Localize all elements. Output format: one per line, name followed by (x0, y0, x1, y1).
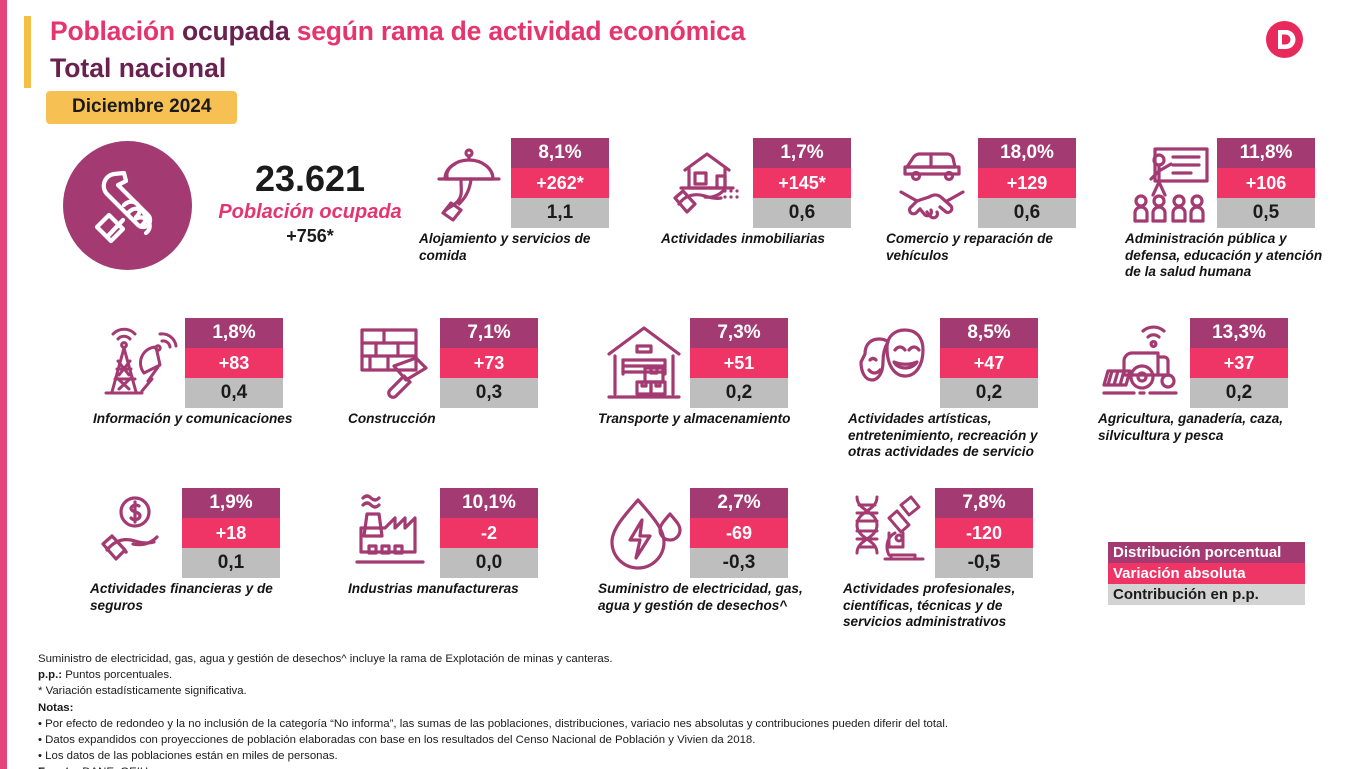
band-distribucion-porcentual: 11,8% (1217, 138, 1315, 168)
antenna-satellite-icon (96, 321, 182, 403)
band-variacion-absoluta: -69 (690, 518, 788, 548)
card-informacion-y-comunicaciones: 1,8% +83 0,4 Información y comunicacione… (93, 318, 298, 428)
card-suministro-electricidad-gas-agua: 2,7% -69 -0,3 Suministro de electricidad… (598, 488, 810, 614)
card-comercio-y-reparacion-de-vehiculos: 18,0% +129 0,6 Comercio y reparación de … (886, 138, 1096, 264)
card-icon-wrap (598, 318, 690, 406)
footnote-line-7: • Los datos de las poblaciones están en … (38, 748, 948, 764)
card-bands: 1,8% +83 0,4 (185, 318, 283, 408)
page-title: Población ocupada según rama de activida… (50, 16, 745, 47)
band-variacion-absoluta: +262* (511, 168, 609, 198)
footnote-line-2: p.p.: Puntos porcentuales. (38, 667, 948, 683)
date-badge: Diciembre 2024 (46, 91, 237, 124)
wrench-hand-icon (87, 165, 169, 247)
card-label: Agricultura, ganadería, caza, silvicultu… (1098, 411, 1310, 444)
card-icon-wrap (90, 488, 182, 576)
card-label: Construcción (348, 411, 543, 428)
card-bands: 7,1% +73 0,3 (440, 318, 538, 408)
warehouse-boxes-icon (601, 322, 687, 402)
band-distribucion-porcentual: 8,1% (511, 138, 609, 168)
card-administracion-publica: 11,8% +106 0,5 Administración pública y … (1125, 138, 1337, 281)
card-icon-wrap (598, 488, 690, 576)
theater-masks-icon (853, 322, 935, 402)
legend: Distribución porcentual Variación absolu… (1108, 542, 1305, 605)
legend-distribucion-porcentual: Distribución porcentual (1108, 542, 1305, 563)
card-transporte-y-almacenamiento: 7,3% +51 0,2 Transporte y almacenamiento (598, 318, 808, 428)
footnote-notas-label: Notas: (38, 700, 948, 716)
card-label: Alojamiento y servicios de comida (419, 231, 619, 264)
card-label: Administración pública y defensa, educac… (1125, 231, 1337, 281)
card-label: Transporte y almacenamiento (598, 411, 808, 428)
card-actividades-inmobiliarias: 1,7% +145* 0,6 Actividades inmobiliarias (661, 138, 861, 248)
card-actividades-artisticas: 8,5% +47 0,2 Actividades artísticas, ent… (848, 318, 1066, 461)
band-distribucion-porcentual: 8,5% (940, 318, 1038, 348)
card-bands: 1,9% +18 0,1 (182, 488, 280, 578)
page-subtitle: Total nacional (50, 53, 226, 84)
band-variacion-absoluta: +18 (182, 518, 280, 548)
band-contribucion: 0,6 (978, 198, 1076, 228)
card-bands: 13,3% +37 0,2 (1190, 318, 1288, 408)
card-actividades-profesionales: 7,8% -120 -0,5 Actividades profesionales… (843, 488, 1065, 631)
card-label: Actividades artísticas, entretenimiento,… (848, 411, 1066, 461)
card-icon-wrap (661, 138, 753, 226)
car-handshake-icon (889, 142, 975, 222)
card-industrias-manufactureras: 10,1% -2 0,0 Industrias manufactureras (348, 488, 553, 598)
hero-text: 23.621 Población ocupada +756* (200, 160, 420, 247)
hero-variation: +756* (200, 226, 420, 247)
band-contribucion: 0,3 (440, 378, 538, 408)
band-variacion-absoluta: -120 (935, 518, 1033, 548)
footnote-line-6: • Datos expandidos con proyecciones de p… (38, 732, 948, 748)
card-actividades-financieras: 1,9% +18 0,1 Actividades financieras y d… (90, 488, 295, 614)
band-variacion-absoluta: +47 (940, 348, 1038, 378)
band-variacion-absoluta: +129 (978, 168, 1076, 198)
card-bands: 1,7% +145* 0,6 (753, 138, 851, 228)
band-variacion-absoluta: +106 (1217, 168, 1315, 198)
band-distribucion-porcentual: 1,9% (182, 488, 280, 518)
band-contribucion: 0,1 (182, 548, 280, 578)
money-hand-icon (93, 492, 179, 572)
band-variacion-absoluta: +37 (1190, 348, 1288, 378)
hero-label: Población ocupada (200, 200, 420, 225)
dna-microscope-icon (845, 491, 933, 573)
infographic-page: Población ocupada según rama de activida… (0, 0, 1345, 769)
card-icon-wrap (348, 488, 440, 576)
card-bands: 18,0% +129 0,6 (978, 138, 1076, 228)
page-title-part3: según rama de actividad económica (290, 16, 746, 46)
card-label: Actividades profesionales, científicas, … (843, 581, 1065, 631)
food-service-cloche-icon (425, 142, 505, 222)
card-label: Comercio y reparación de vehículos (886, 231, 1096, 264)
card-icon-wrap (886, 138, 978, 226)
band-contribucion: -0,5 (935, 548, 1033, 578)
factory-icon (351, 492, 437, 572)
tractor-icon (1098, 321, 1190, 403)
band-variacion-absoluta: +51 (690, 348, 788, 378)
card-icon-wrap (1125, 138, 1217, 226)
legend-contribucion-pp: Contribución en p.p. (1108, 584, 1305, 605)
band-distribucion-porcentual: 1,7% (753, 138, 851, 168)
band-distribucion-porcentual: 7,1% (440, 318, 538, 348)
band-variacion-absoluta: -2 (440, 518, 538, 548)
card-icon-wrap (848, 318, 940, 406)
band-distribucion-porcentual: 18,0% (978, 138, 1076, 168)
band-contribucion: 0,6 (753, 198, 851, 228)
card-label: Industrias manufactureras (348, 581, 553, 598)
card-label: Información y comunicaciones (93, 411, 298, 428)
footnote-pp-label: p.p.: (38, 669, 62, 681)
card-bands: 2,7% -69 -0,3 (690, 488, 788, 578)
card-alojamiento-y-servicios-de-comida: 8,1% +262* 1,1 Alojamiento y servicios d… (419, 138, 619, 264)
band-distribucion-porcentual: 13,3% (1190, 318, 1288, 348)
card-icon-wrap (93, 318, 185, 406)
footnote-line-8: Fuente: DANE, GEIH. (38, 764, 948, 769)
card-label: Actividades financieras y de seguros (90, 581, 295, 614)
footnote-line-3: * Variación estadísticamente significati… (38, 683, 948, 699)
card-agricultura: 13,3% +37 0,2 Agricultura, ganadería, ca… (1098, 318, 1310, 444)
card-icon-wrap (419, 138, 511, 226)
card-icon-wrap (348, 318, 440, 406)
band-contribucion: 0,0 (440, 548, 538, 578)
card-label: Actividades inmobiliarias (661, 231, 861, 248)
card-bands: 7,3% +51 0,2 (690, 318, 788, 408)
band-variacion-absoluta: +73 (440, 348, 538, 378)
card-label: Suministro de electricidad, gas, agua y … (598, 581, 810, 614)
band-contribucion: 0,4 (185, 378, 283, 408)
card-icon-wrap (843, 488, 935, 576)
left-edge-accent-bar (0, 0, 7, 769)
card-bands: 7,8% -120 -0,5 (935, 488, 1033, 578)
band-contribucion: -0,3 (690, 548, 788, 578)
band-variacion-absoluta: +83 (185, 348, 283, 378)
legend-variacion-absoluta: Variación absoluta (1108, 563, 1305, 584)
card-bands: 8,5% +47 0,2 (940, 318, 1038, 408)
band-contribucion: 0,2 (690, 378, 788, 408)
footnote-line-5: • Por efecto de redondeo y la no inclusi… (38, 716, 948, 732)
band-distribucion-porcentual: 1,8% (185, 318, 283, 348)
hero-number: 23.621 (200, 160, 420, 198)
bricks-trowel-icon (354, 322, 434, 402)
card-icon-wrap (1098, 318, 1190, 406)
card-bands: 8,1% +262* 1,1 (511, 138, 609, 228)
band-variacion-absoluta: +145* (753, 168, 851, 198)
band-distribucion-porcentual: 2,7% (690, 488, 788, 518)
footnote-line-1: Suministro de electricidad, gas, agua y … (38, 651, 948, 667)
card-bands: 10,1% -2 0,0 (440, 488, 538, 578)
house-in-hand-icon (665, 142, 749, 222)
card-construccion: 7,1% +73 0,3 Construcción (348, 318, 543, 428)
band-distribucion-porcentual: 7,8% (935, 488, 1033, 518)
band-contribucion: 0,2 (1190, 378, 1288, 408)
card-bands: 11,8% +106 0,5 (1217, 138, 1315, 228)
band-distribucion-porcentual: 7,3% (690, 318, 788, 348)
band-contribucion: 0,5 (1217, 198, 1315, 228)
dane-logo (1266, 21, 1303, 58)
title-accent-bar (24, 16, 31, 88)
page-title-part1: Población (50, 16, 175, 46)
water-drop-bolt-icon (602, 492, 686, 572)
page-title-part2: ocupada (175, 16, 290, 46)
band-distribucion-porcentual: 10,1% (440, 488, 538, 518)
footnote-pp-text: Puntos porcentuales. (62, 669, 172, 681)
hero-icon-circle (63, 141, 192, 270)
band-contribucion: 1,1 (511, 198, 609, 228)
footnotes: Suministro de electricidad, gas, agua y … (38, 651, 948, 769)
teacher-classroom-icon (1129, 141, 1213, 223)
band-contribucion: 0,2 (940, 378, 1038, 408)
